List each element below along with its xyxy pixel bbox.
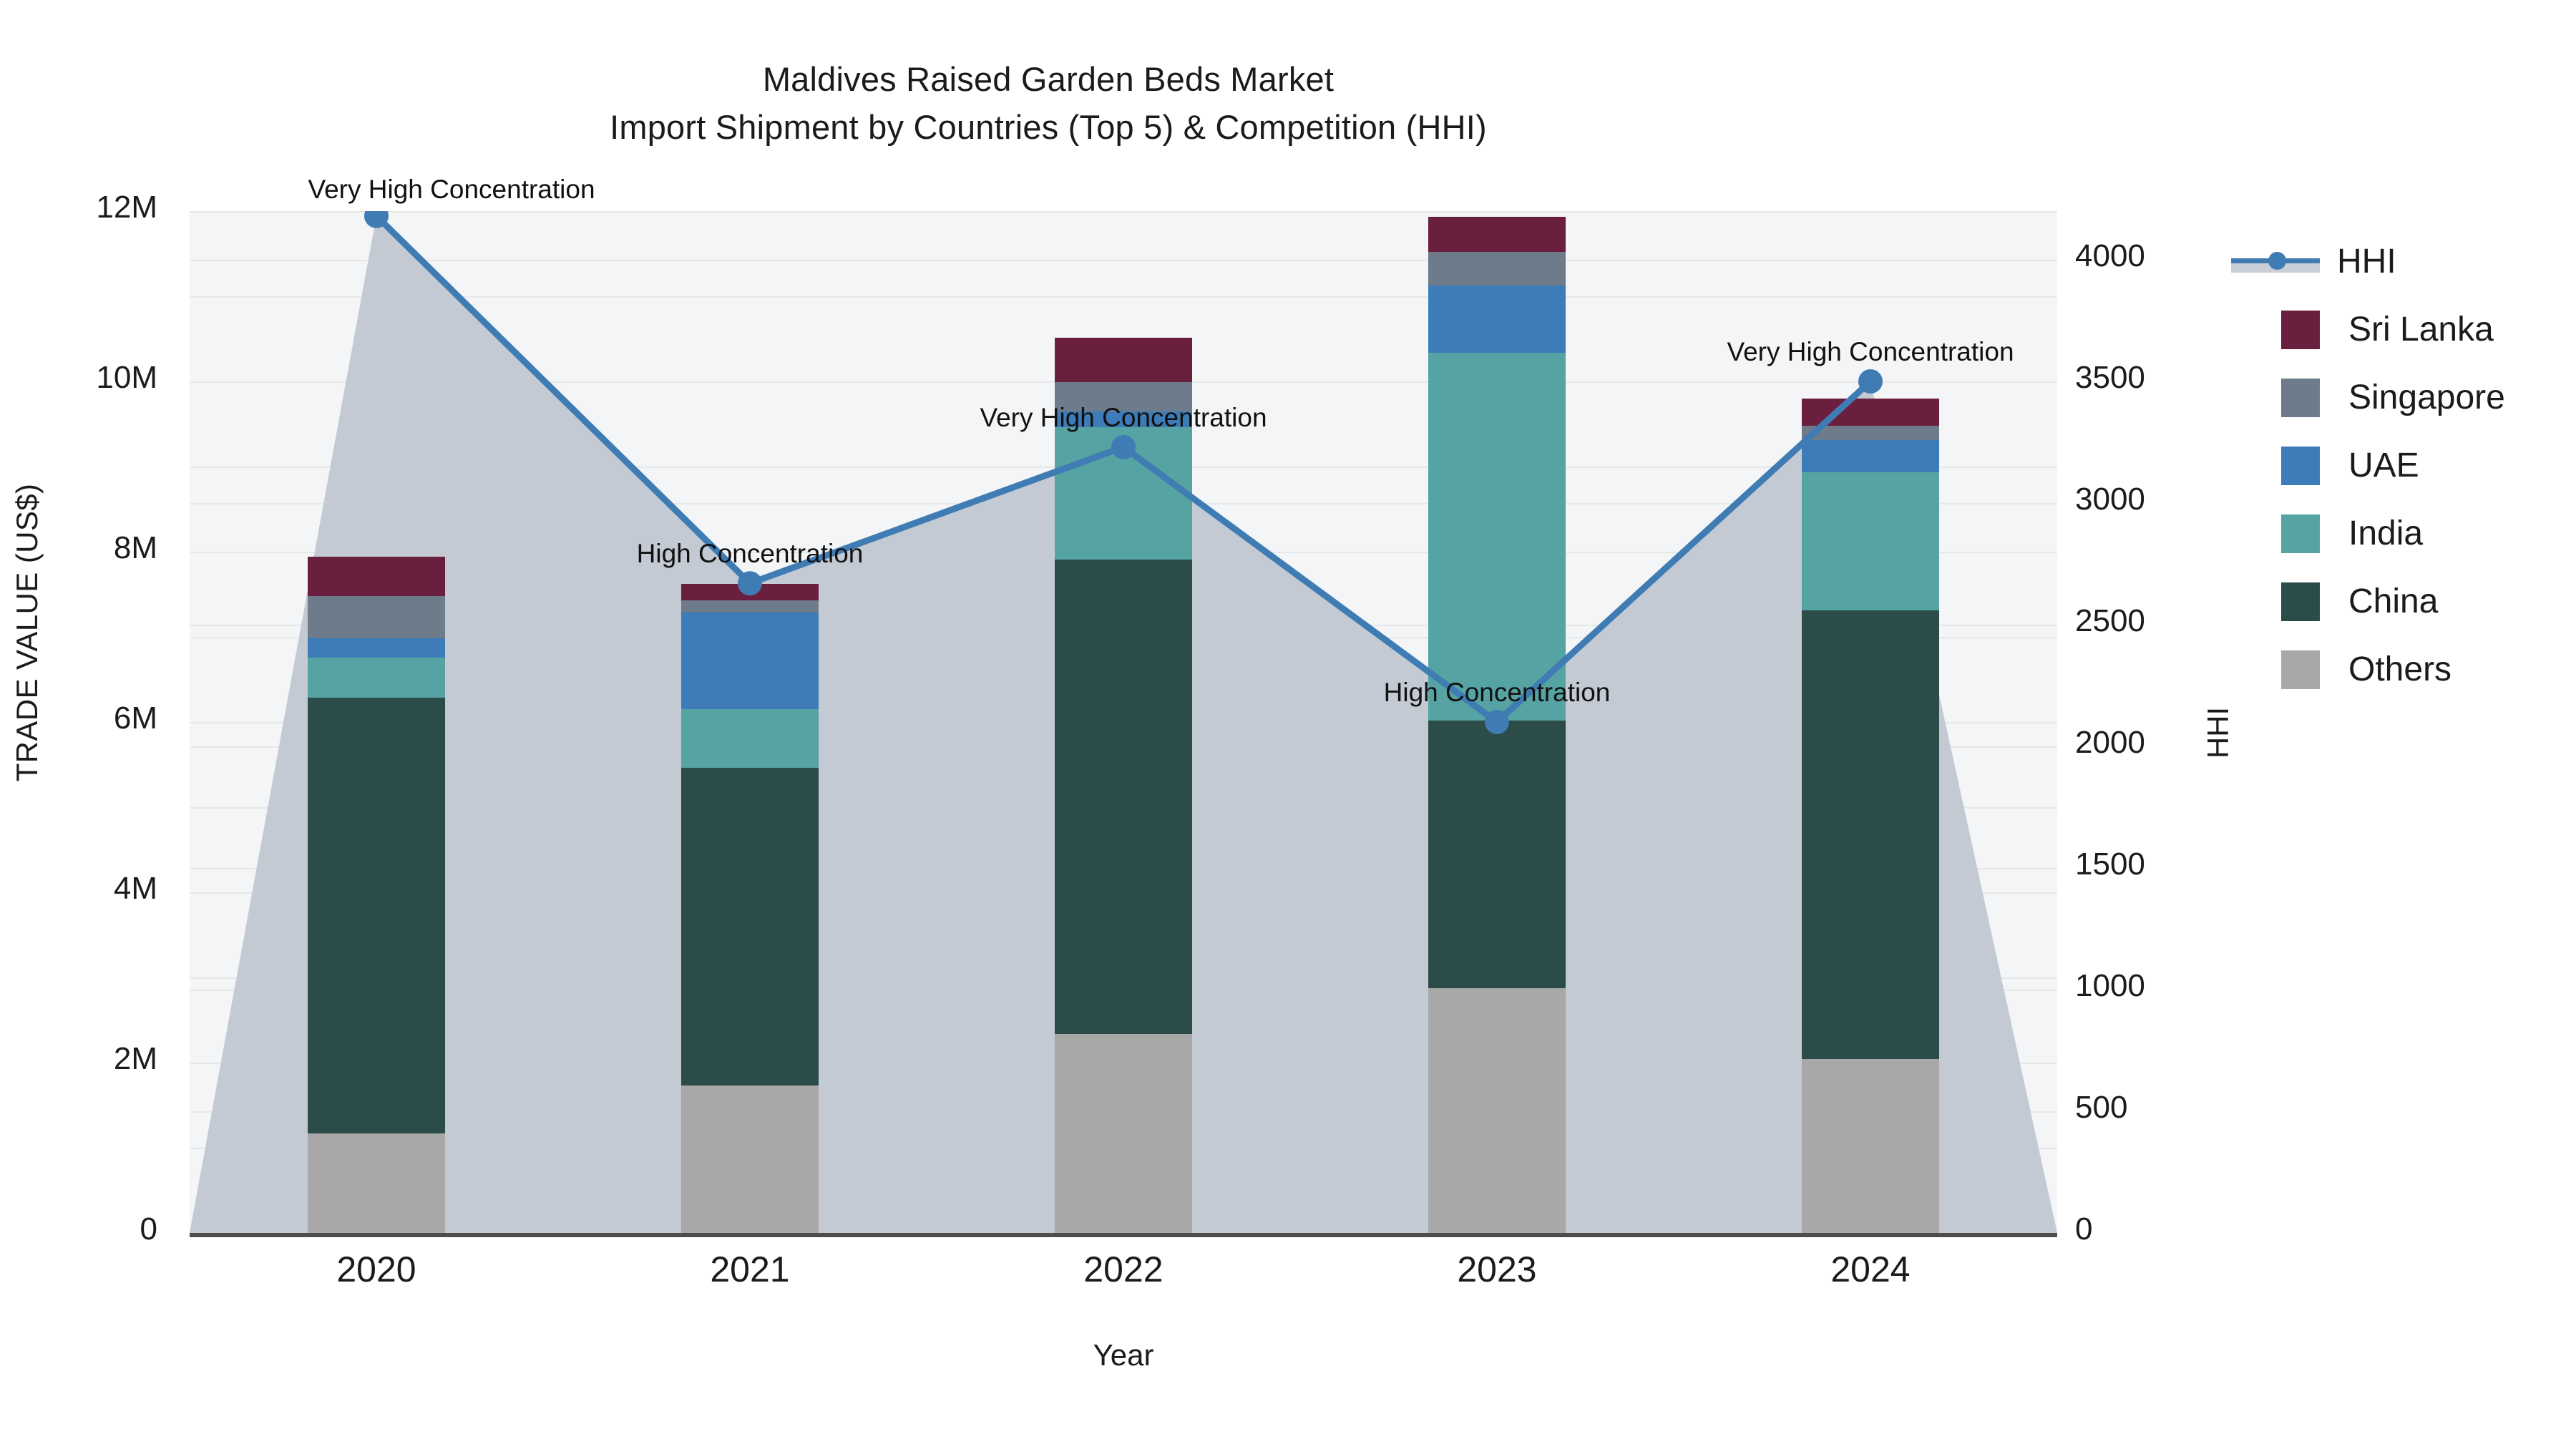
y-axis-right-tick-label: 4000 (2075, 238, 2247, 274)
x-axis-tick-label: 2021 (607, 1249, 893, 1290)
bar-stack[interactable] (1055, 211, 1192, 1233)
bar-stack[interactable] (1428, 211, 1566, 1233)
legend-swatch-icon (2281, 379, 2320, 417)
legend-item-china[interactable]: China (2254, 567, 2562, 635)
y-axis-right-tick-label: 2500 (2075, 603, 2247, 639)
bar-segment-india[interactable] (1055, 427, 1192, 559)
bar-stack[interactable] (308, 211, 445, 1233)
y-axis-left-title: TRADE VALUE (US$) (10, 339, 44, 926)
y-axis-right-tick-label: 500 (2075, 1090, 2247, 1126)
y-axis-right-tick-label: 3000 (2075, 482, 2247, 517)
x-axis-tick-label: 2022 (980, 1249, 1267, 1290)
legend-item-hhi[interactable]: HHI (2254, 228, 2562, 296)
bar-segment-singapore[interactable] (1428, 252, 1566, 285)
y-axis-right-title: HHI (2201, 661, 2235, 804)
legend-label: Sri Lanka (2348, 310, 2494, 349)
bar-segment-china[interactable] (1428, 721, 1566, 989)
y-axis-right-tick-label: 0 (2075, 1211, 2247, 1247)
x-axis-tick-label: 2024 (1727, 1249, 2014, 1290)
bar-stack[interactable] (681, 211, 819, 1233)
legend-line-key-icon (2228, 243, 2323, 281)
legend-label: China (2348, 582, 2438, 621)
concentration-annotation: High Concentration (637, 539, 864, 569)
y-axis-left-tick-label: 0 (0, 1211, 157, 1247)
bar-segment-india[interactable] (681, 709, 819, 768)
chart-title-line-2: Import Shipment by Countries (Top 5) & C… (0, 104, 2097, 152)
bar-segment-uae[interactable] (308, 638, 445, 657)
bar-segment-uae[interactable] (681, 613, 819, 710)
bar-segment-china[interactable] (1055, 560, 1192, 1034)
legend-item-others[interactable]: Others (2254, 635, 2562, 703)
x-axis-line (190, 1233, 2057, 1237)
chart-canvas: Maldives Raised Garden Beds Market Impor… (0, 0, 2576, 1449)
bar-segment-others[interactable] (681, 1085, 819, 1233)
legend-label: Others (2348, 650, 2451, 689)
concentration-annotation: Very High Concentration (980, 403, 1267, 433)
legend-label: HHI (2337, 242, 2396, 281)
legend-swatch-icon (2281, 650, 2320, 689)
legend-swatch-icon (2281, 514, 2320, 553)
bar-segment-others[interactable] (308, 1133, 445, 1233)
bar-segment-uae[interactable] (1802, 440, 1939, 472)
concentration-annotation: Very High Concentration (1727, 337, 2014, 367)
legend-swatch-icon (2281, 311, 2320, 349)
bar-segment-sri-lanka[interactable] (681, 584, 819, 600)
bar-segment-singapore[interactable] (308, 596, 445, 639)
y-axis-left-tick-label: 2M (0, 1041, 157, 1077)
bar-segment-others[interactable] (1428, 988, 1566, 1233)
bar-segment-others[interactable] (1055, 1034, 1192, 1233)
legend-item-india[interactable]: India (2254, 499, 2562, 567)
bar-segment-china[interactable] (1802, 610, 1939, 1059)
bar-segment-singapore[interactable] (1802, 426, 1939, 440)
concentration-annotation: High Concentration (1384, 678, 1611, 708)
legend-item-sri-lanka[interactable]: Sri Lanka (2254, 296, 2562, 364)
legend-item-singapore[interactable]: Singapore (2254, 364, 2562, 431)
legend-swatch-icon (2281, 447, 2320, 485)
bar-segment-others[interactable] (1802, 1059, 1939, 1233)
y-axis-right-tick-label: 1000 (2075, 968, 2247, 1004)
bar-segment-sri-lanka[interactable] (1802, 399, 1939, 426)
bar-segment-singapore[interactable] (681, 600, 819, 613)
legend-label: UAE (2348, 446, 2419, 485)
bar-segment-india[interactable] (308, 658, 445, 698)
y-axis-right-tick-label: 1500 (2075, 847, 2247, 882)
x-axis-tick-label: 2023 (1354, 1249, 1640, 1290)
bar-segment-sri-lanka[interactable] (308, 557, 445, 596)
legend-swatch-icon (2281, 582, 2320, 621)
bar-segment-uae[interactable] (1428, 286, 1566, 353)
chart-title-line-1: Maldives Raised Garden Beds Market (0, 56, 2097, 104)
concentration-annotation: Very High Concentration (308, 175, 595, 205)
bar-segment-india[interactable] (1428, 353, 1566, 721)
x-axis-title: Year (190, 1338, 2057, 1372)
bar-segment-india[interactable] (1802, 472, 1939, 610)
legend: HHISri LankaSingaporeUAEIndiaChinaOthers (2254, 228, 2562, 703)
x-axis-tick-label: 2020 (233, 1249, 519, 1290)
bar-segment-china[interactable] (308, 698, 445, 1133)
legend-label: Singapore (2348, 378, 2505, 417)
legend-item-uae[interactable]: UAE (2254, 431, 2562, 499)
bar-segment-china[interactable] (681, 768, 819, 1085)
legend-label: India (2348, 514, 2423, 553)
bar-segment-sri-lanka[interactable] (1428, 217, 1566, 252)
y-axis-right-tick-label: 3500 (2075, 360, 2247, 396)
chart-title: Maldives Raised Garden Beds Market Impor… (0, 56, 2097, 151)
bar-segment-sri-lanka[interactable] (1055, 338, 1192, 382)
y-axis-left-tick-label: 12M (0, 190, 157, 225)
